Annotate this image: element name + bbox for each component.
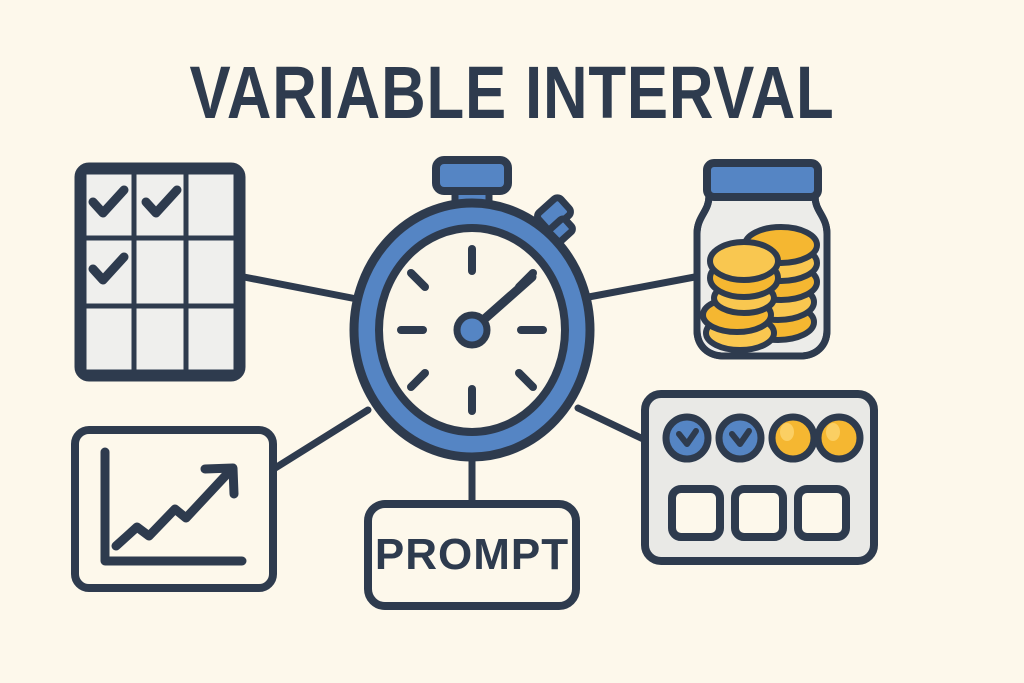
reward-slot-1[interactable] [672,489,720,537]
checklist-cell-5[interactable] [186,238,236,306]
token-coin-1[interactable] [772,417,814,459]
stopwatch-pivot [457,315,487,345]
reward-board[interactable] [645,394,874,561]
jar-coins [703,227,817,350]
growth-chart[interactable] [75,430,273,588]
jar-lid [707,163,818,197]
checklist-cell-4[interactable] [134,238,186,306]
infographic-scene: VARIABLE INTERVAL [0,0,1024,683]
reward-slot-2[interactable] [735,489,783,537]
page-title: VARIABLE INTERVAL [190,51,835,134]
reward-empty-slots [672,489,846,537]
checklist-grid[interactable] [78,166,242,378]
reward-slot-3[interactable] [798,489,846,537]
token-check-2[interactable] [719,417,761,459]
token-check-1[interactable] [666,417,708,459]
prompt-box[interactable]: PROMPT [368,504,576,606]
prompt-label: PROMPT [375,530,569,579]
checklist-cell-7[interactable] [134,306,186,372]
stopwatch-crown[interactable] [436,160,508,191]
checklist-cell-6[interactable] [84,306,134,372]
coin-jar[interactable] [697,163,827,356]
checklist-cell-8[interactable] [186,306,236,372]
token-coin-2[interactable] [818,417,860,459]
coin-icon-shine-2 [826,423,840,441]
coin-icon-l5 [710,242,778,280]
infographic-canvas: VARIABLE INTERVAL [0,0,1024,683]
checklist-cell-2[interactable] [186,172,236,238]
coin-icon-shine-1 [780,423,794,441]
